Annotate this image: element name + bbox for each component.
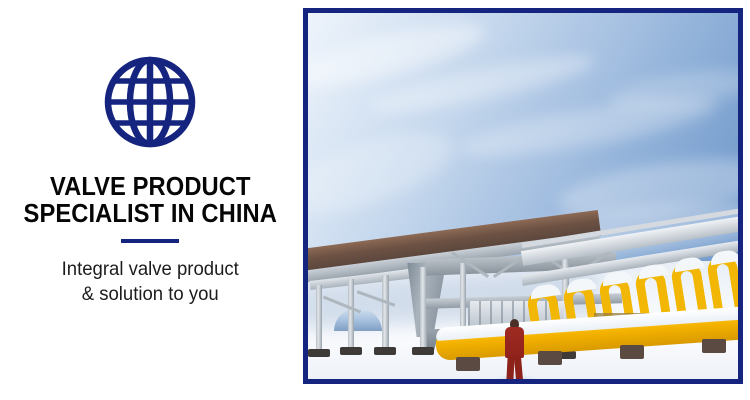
pipe-support [702, 339, 726, 353]
promo-banner: VALVE PRODUCT SPECIALIST IN CHINA Integr… [0, 0, 750, 400]
plant-photo [303, 8, 743, 384]
support-column [348, 279, 354, 349]
support-column [316, 285, 322, 351]
subheadline-line-1: Integral valve product [61, 257, 238, 282]
headline-line-1: VALVE PRODUCT [23, 174, 276, 201]
worker-body [505, 327, 524, 358]
page-subtitle: Integral valve product & solution to you [61, 257, 238, 307]
column-base [340, 347, 362, 355]
headline-line-2: SPECIALIST IN CHINA [23, 201, 276, 228]
worker-leg [514, 356, 523, 379]
pipe-support [456, 357, 480, 371]
column-base [308, 349, 330, 357]
pipe-support [620, 345, 644, 359]
globe-icon [104, 52, 196, 152]
page-title: VALVE PRODUCT SPECIALIST IN CHINA [23, 174, 276, 228]
pipe-support [538, 351, 562, 365]
column-base [374, 347, 396, 355]
subheadline-line-2: & solution to you [61, 282, 238, 307]
worker-figure [504, 319, 525, 379]
left-text-panel: VALVE PRODUCT SPECIALIST IN CHINA Integr… [0, 0, 300, 400]
plant-photo-canvas [308, 13, 738, 379]
title-divider [121, 239, 179, 243]
column-base [412, 347, 434, 355]
support-column [382, 275, 389, 349]
